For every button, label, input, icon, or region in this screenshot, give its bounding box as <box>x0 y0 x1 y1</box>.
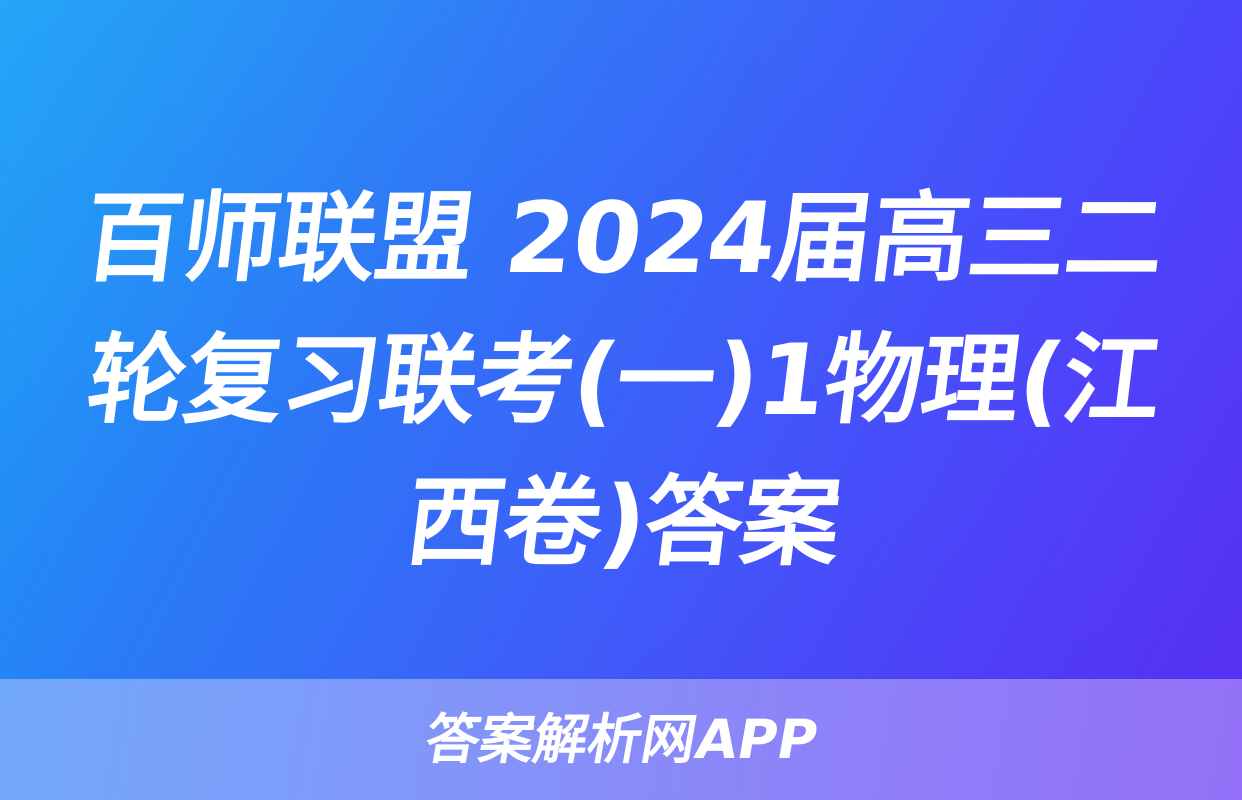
app-promo-banner[interactable]: 答案解析网APP <box>0 679 1242 800</box>
app-name-label: 答案解析网APP <box>420 710 822 770</box>
page-title: 百师联盟 2024届高三二 轮复习联考(一)1物理(江 西卷)答案 <box>0 168 1242 594</box>
title-line-2: 轮复习联考(一)1物理(江 <box>0 310 1242 452</box>
title-line-1: 百师联盟 2024届高三二 <box>0 168 1242 310</box>
title-line-3: 西卷)答案 <box>0 452 1242 594</box>
promo-card: 百师联盟 2024届高三二 轮复习联考(一)1物理(江 西卷)答案 答案解析网A… <box>0 0 1242 800</box>
